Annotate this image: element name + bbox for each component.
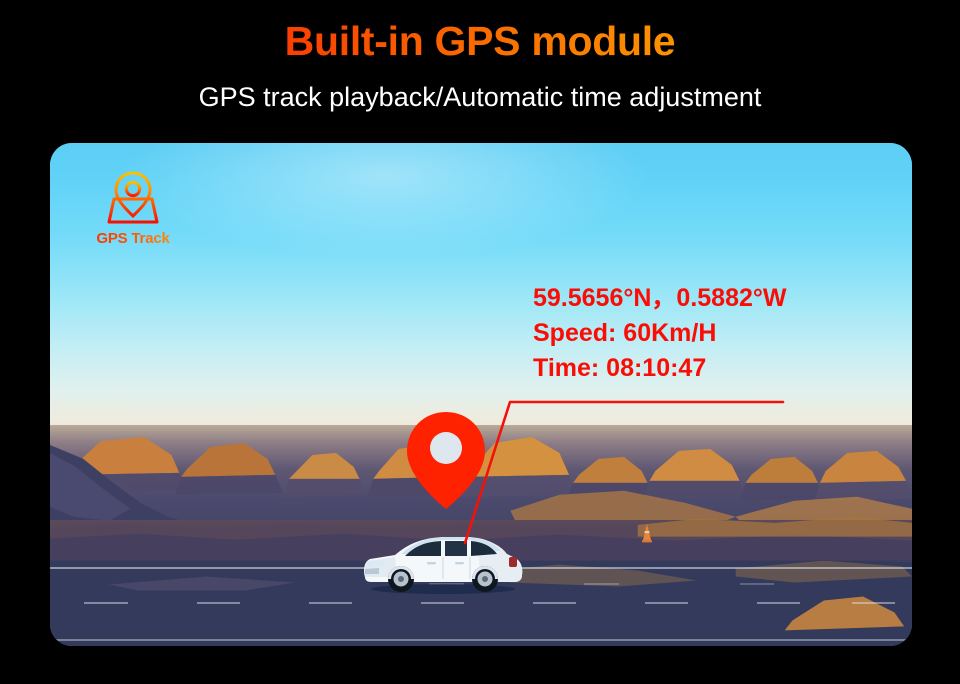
gps-track-map-pin-icon (101, 169, 165, 227)
gps-telemetry-readout: 59.5656°N，0.5882°W Speed: 60Km/H Time: 0… (533, 281, 786, 386)
time-text: Time: 08:10:47 (533, 351, 786, 386)
lane-dash (197, 602, 240, 604)
gps-track-label: GPS Track (78, 230, 188, 247)
road-edge-line-bottom (50, 639, 912, 641)
lane-dash (584, 583, 618, 585)
gps-track-badge: GPS Track (78, 169, 188, 247)
lane-dash (533, 602, 576, 604)
traffic-cone-icon (640, 523, 654, 543)
lane-dash (309, 602, 352, 604)
lane-dash (852, 602, 895, 604)
vehicle-minivan (357, 529, 527, 595)
lane-dash (84, 602, 127, 604)
sky-glow (119, 143, 653, 260)
lane-dash (757, 602, 800, 604)
page-title: Built-in GPS module (0, 16, 960, 66)
gps-preview-image: 59.5656°N，0.5882°W Speed: 60Km/H Time: 0… (50, 143, 912, 646)
coordinates-text: 59.5656°N，0.5882°W (533, 281, 786, 316)
promo-banner: Built-in GPS module GPS track playback/A… (0, 0, 960, 684)
lane-dash (645, 602, 688, 604)
page-subtitle: GPS track playback/Automatic time adjust… (0, 80, 960, 114)
lane-dash (740, 583, 774, 585)
lane-dash (421, 602, 464, 604)
speed-text: Speed: 60Km/H (533, 316, 786, 351)
